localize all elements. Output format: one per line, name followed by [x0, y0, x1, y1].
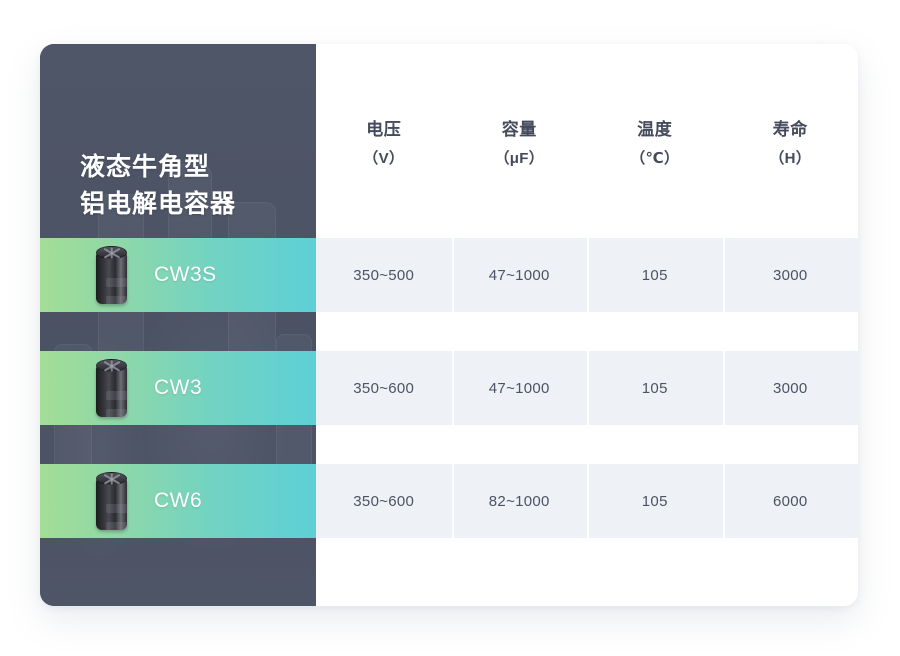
cell-voltage: 350~600: [316, 464, 452, 538]
capacitor-sleeve-label: [106, 504, 128, 513]
vent-score-line: [111, 360, 113, 371]
capacitor-body: [96, 365, 127, 417]
spacer-cell: [587, 425, 723, 464]
capacitor-icon: [90, 470, 134, 532]
spacer-cell: [723, 312, 859, 351]
cell-temperature: 105: [587, 238, 723, 312]
table-row[interactable]: 350~600 82~1000 105 6000: [316, 464, 858, 538]
spacer-cell: [452, 312, 588, 351]
product-panel: 液态牛角型 铝电解电容器 CW3S: [40, 44, 316, 606]
table-row-spacer: [316, 312, 858, 351]
table-row[interactable]: 350~500 47~1000 105 3000: [316, 238, 858, 312]
product-band[interactable]: CW3S: [40, 238, 316, 312]
capacitor-sleeve-label: [106, 296, 128, 305]
spacer-cell: [723, 538, 859, 606]
column-header-label: 电压: [366, 115, 401, 140]
column-header-capacitance: 容量 （μF）: [452, 44, 588, 238]
spacer-cell: [452, 538, 588, 606]
spacer-cell: [452, 425, 588, 464]
product-band-list: CW3S CW3: [40, 44, 316, 606]
spacer-cell: [723, 425, 859, 464]
page-root: 液态牛角型 铝电解电容器 CW3S: [0, 0, 900, 656]
cell-voltage: 350~500: [316, 238, 452, 312]
cell-lifetime: 6000: [723, 464, 859, 538]
table-row-spacer: [316, 425, 858, 464]
cell-voltage: 350~600: [316, 351, 452, 425]
product-name: CW3S: [154, 263, 217, 287]
spacer-cell: [587, 538, 723, 606]
capacitor-vent-top: [96, 359, 127, 372]
cell-capacitance: 82~1000: [452, 464, 588, 538]
vent-score-line: [111, 473, 113, 484]
product-band[interactable]: CW6: [40, 464, 316, 538]
spacer-cell: [316, 312, 452, 351]
cell-lifetime: 3000: [723, 238, 859, 312]
product-band[interactable]: CW3: [40, 351, 316, 425]
table-row[interactable]: 350~600 47~1000 105 3000: [316, 351, 858, 425]
spec-table: 电压 （V） 容量 （μF） 温度 （℃） 寿命 （H） 350~500: [316, 44, 858, 606]
column-header-unit: （μF）: [494, 147, 544, 168]
product-spec-card: 液态牛角型 铝电解电容器 CW3S: [40, 44, 858, 606]
capacitor-vent-top: [96, 246, 127, 259]
capacitor-icon: [90, 357, 134, 419]
column-header-voltage: 电压 （V）: [316, 44, 452, 238]
column-header-label: 容量: [502, 115, 537, 140]
spacer-cell: [316, 425, 452, 464]
cell-capacitance: 47~1000: [452, 238, 588, 312]
cell-capacitance: 47~1000: [452, 351, 588, 425]
cell-lifetime: 3000: [723, 351, 859, 425]
capacitor-sleeve-label: [106, 522, 128, 531]
column-header-unit: （℃）: [630, 147, 679, 168]
table-header-row: 电压 （V） 容量 （μF） 温度 （℃） 寿命 （H）: [316, 44, 858, 238]
column-header-unit: （V）: [363, 147, 404, 168]
product-name: CW6: [154, 489, 202, 513]
capacitor-sleeve-label: [106, 278, 128, 287]
spacer-cell: [316, 538, 452, 606]
capacitor-sleeve-label: [106, 409, 128, 418]
vent-score-line: [111, 247, 113, 258]
capacitor-sleeve-label: [106, 391, 128, 400]
capacitor-body: [96, 252, 127, 304]
column-header-lifetime: 寿命 （H）: [723, 44, 859, 238]
capacitor-vent-top: [96, 472, 127, 485]
spacer-cell: [587, 312, 723, 351]
cell-temperature: 105: [587, 351, 723, 425]
table-row-spacer: [316, 538, 858, 606]
capacitor-body: [96, 478, 127, 530]
column-header-label: 寿命: [773, 115, 808, 140]
product-name: CW3: [154, 376, 202, 400]
column-header-label: 温度: [637, 115, 672, 140]
capacitor-icon: [90, 244, 134, 306]
cell-temperature: 105: [587, 464, 723, 538]
column-header-unit: （H）: [769, 147, 811, 168]
column-header-temperature: 温度 （℃）: [587, 44, 723, 238]
